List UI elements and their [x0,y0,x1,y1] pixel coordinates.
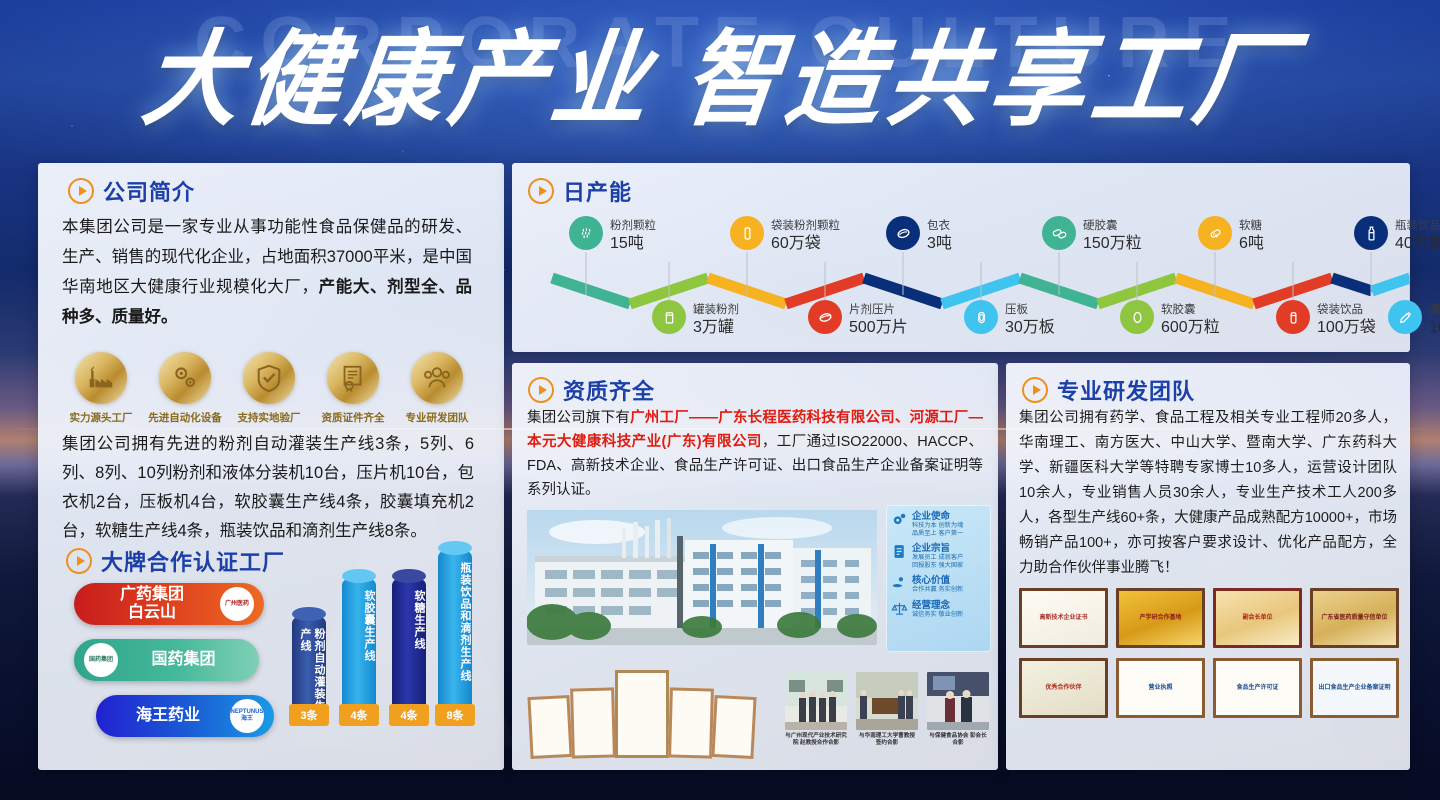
capacity-node-value: 10万瓶 [1429,318,1440,337]
partnership-photo [927,672,989,730]
certificate-item[interactable] [615,670,669,758]
brand-partners-title: 大牌合作认证工厂 [101,545,285,577]
culture-item-line1: 科技为本 创新为魂 [912,522,963,530]
banner: CORPORATE CULTURE 大健康产业 智造共享工厂 [0,0,1440,160]
certificate-item[interactable]: 营业执照 [1116,658,1205,718]
capacity-node-label: 软胶囊 [1161,304,1196,316]
culture-item-text: 经营理念 诚信务实 敬业创新 [912,600,963,619]
culture-item-title: 企业使命 [912,511,963,522]
culture-item-line2: 品质至上 客户第一 [912,530,963,538]
capacity-zigzag-chart: 粉剂颗粒 15吨 袋装粉剂颗粒 60万袋 包衣 3吨 [512,200,1410,352]
capacity-node-text: 软糖 6吨 [1239,216,1264,253]
capacity-node-soft-capsule[interactable]: 软胶囊 600万粒 [1120,300,1220,337]
culture-item-line1: 合作共赢 务实创新 [912,586,963,594]
qualification-text-a: 集团公司旗下有 [527,410,630,426]
capacity-node-label: 软糖 [1239,220,1262,232]
bottle-icon [1354,216,1388,250]
factory-building-photo [527,510,877,645]
capacity-node-label: 硬胶囊 [1083,220,1118,232]
qualification-title: 资质齐全 [563,374,655,406]
rnd-team-heading: 专业研发团队 [1022,374,1195,406]
capacity-node-text: 软胶囊 600万粒 [1161,300,1220,337]
award-certificate-grid: 高新技术企业证书 产学研合作基地 副会长单位 广东省医药质量守信单位 优秀合作伙… [1019,588,1399,718]
production-line-bar-chart: 粉剂自动灌装生产线 3条 软胶囊生产线 4条 软糖生产线 4条 瓶装饮品和滴剂生… [292,560,472,760]
coated-tablet-icon [886,216,920,250]
capacity-node-value: 100万袋 [1317,318,1376,337]
capacity-node-tablet[interactable]: 片剂压片 500万片 [808,300,908,337]
capacity-node-value: 6吨 [1239,234,1264,253]
capacity-node-pouch-drink[interactable]: 袋装饮品 100万袋 [1276,300,1376,337]
capacity-node-value: 40万瓶 [1395,234,1440,253]
capacity-node-value: 3吨 [927,234,952,253]
bar-group: 粉剂自动灌装生产线 3条 [292,614,326,726]
bar-cap [342,569,376,583]
capacity-node-label: 瓶装饮品 [1395,220,1440,232]
capacity-node-label: 袋装饮品 [1317,304,1363,316]
certificate-item[interactable] [711,695,756,759]
neptunus-logo-icon: NEPTUNUS 海王 [230,699,264,733]
certificate-item[interactable]: 副会长单位 [1213,588,1302,648]
bar-label: 软胶囊生产线 [342,590,376,718]
culture-item-title: 核心价值 [912,575,963,586]
shield-check-icon [243,352,295,404]
culture-item-line2: 回报股东 强大国家 [912,562,963,570]
brand-badge-neptunus[interactable]: 海王药业 NEPTUNUS 海王 [96,695,274,737]
qualification-heading: 资质齐全 [528,374,655,406]
bar-label: 软糖生产线 [392,590,426,718]
capacity-node-text: 粉剂颗粒 15吨 [610,216,656,253]
certificate-item[interactable]: 高新技术企业证书 [1019,588,1108,648]
list-item[interactable]: 与华南理工大学曹教授 签约合影 [856,672,918,764]
factory-icon [75,352,127,404]
gold-badge-factory: 实力源头工厂 [62,352,140,425]
capacity-node-text: 罐装粉剂 3万罐 [693,300,739,337]
certificate-item[interactable]: 广东省医药质量守信单位 [1310,588,1399,648]
partnership-photo [785,672,847,730]
brand-badge-label: 国药集团 [118,651,249,669]
partnership-photo [856,672,918,730]
hand-person-icon [891,575,908,592]
rnd-team-title: 专业研发团队 [1057,374,1195,406]
book-icon [891,543,908,560]
capacity-node-value: 60万袋 [771,234,840,253]
culture-item-text: 企业使命 科技为本 创新为魂 品质至上 客户第一 [912,511,963,537]
bar-value-tag: 4条 [339,704,379,726]
certificate-fan-gallery [527,672,777,764]
culture-item-core-value: 核心价值 合作共赢 务实创新 [891,575,986,594]
gold-badge-label: 专业研发团队 [398,410,476,425]
company-intro-title: 公司简介 [103,175,195,207]
certificate-item[interactable]: 优秀合作伙伴 [1019,658,1108,718]
capacity-node-label: 片剂压片 [849,304,895,316]
bar-cap [392,569,426,583]
bar-value-tag: 3条 [289,704,329,726]
sinopharm-logo-icon: 国药集团 [84,643,118,677]
gold-badge-label: 资质证件齐全 [314,410,392,425]
certificate-caption: 广东省医药质量守信单位 [1321,614,1387,622]
capacity-node-powder-granule[interactable]: 粉剂颗粒 15吨 [569,216,656,253]
gold-badge-certificates: 资质证件齐全 [314,352,392,425]
people-icon [411,352,463,404]
company-intro-heading: 公司简介 [68,175,195,207]
capacity-node-label: 压板 [1005,304,1028,316]
capacity-node-bottle-drink[interactable]: 瓶装饮品 40万瓶 [1354,216,1440,253]
culture-item-text: 企业宗旨 发展员工 成就客户 回报股东 强大国家 [912,543,963,569]
capacity-node-value: 3万罐 [693,318,739,337]
dropper-icon [1388,300,1422,334]
brand-badge-list: 广药集团白云山 广州医药 国药集团 国药集团 海王药业 NEPTUNUS 海王 [74,583,249,751]
capacity-node-text: 片剂压片 500万片 [849,300,908,337]
capacity-node-gummy[interactable]: 软糖 6吨 [1198,216,1264,253]
culture-item-title: 经营理念 [912,600,963,611]
brand-badge-label: 海王药业 [106,707,230,725]
scales-icon [891,600,908,617]
capacity-node-text: 滴剂 10万瓶 [1429,300,1440,337]
brand-partners-heading: 大牌合作认证工厂 [66,545,285,577]
certificate-caption: 产学研合作基地 [1139,614,1181,622]
gold-badge-automation: 先进自动化设备 [146,352,224,425]
table-row[interactable]: 瓶装饮品和滴剂生产线 [438,548,472,726]
bar-value-tag: 8条 [435,704,475,726]
capacity-node-value: 600万粒 [1161,318,1220,337]
bar-label: 瓶装饮品和滴剂生产线 [438,562,472,718]
bar-group: 瓶装饮品和滴剂生产线 8条 [438,548,472,726]
qualification-text: 集团公司旗下有广州工厂——广东长程医药科技有限公司、河源工厂—本元大健康科技产业… [527,406,983,502]
culture-item-mission: 企业使命 科技为本 创新为魂 品质至上 客户第一 [891,511,986,537]
chevron-right-circle-icon [528,377,554,403]
capacity-node-text: 包衣 3吨 [927,216,952,253]
culture-item-management: 经营理念 诚信务实 敬业创新 [891,600,986,619]
capacity-node-coating[interactable]: 包衣 3吨 [886,216,952,253]
guangyao-logo-icon: 广州医药 [220,587,254,621]
gold-badge-audit: 支持实地验厂 [230,352,308,425]
capacity-node-sachet[interactable]: 袋装粉剂颗粒 60万袋 [730,216,840,253]
certificate-item[interactable]: 出口食品生产企业备案证明 [1310,658,1399,718]
chevron-right-circle-icon [1022,377,1048,403]
certificate-item[interactable] [527,695,572,759]
bar-group: 软胶囊生产线 4条 [342,576,376,726]
photo-caption: 与广州现代产业技术研究院 赵教授合作合影 [785,733,847,747]
chevron-right-circle-icon [68,178,94,204]
certificate-item[interactable]: 产学研合作基地 [1116,588,1205,648]
certificate-caption: 优秀合作伙伴 [1045,684,1081,692]
capacity-node-text: 袋装饮品 100万袋 [1317,300,1376,337]
capacity-node-value: 30万板 [1005,318,1055,337]
capacity-node-blister[interactable]: 压板 30万板 [964,300,1055,337]
company-intro-text: 本集团公司是一家专业从事功能性食品保健品的研发、生产、销售的现代化企业，占地面积… [62,212,472,332]
production-lines-text: 集团公司拥有先进的粉剂自动灌装生产线3条，5列、6列、8列、10列粉剂和液体分装… [62,430,474,546]
rnd-team-text: 集团公司拥有药学、食品工程及相关专业工程师20多人，华南理工、南方医大、中山大学… [1019,406,1397,581]
chevron-right-circle-icon [66,548,92,574]
capacity-node-text: 袋装粉剂颗粒 60万袋 [771,216,840,253]
bar-cap [292,607,326,621]
culture-item-purpose: 企业宗旨 发展员工 成就客户 回报股东 强大国家 [891,543,986,569]
bar-cap [438,541,472,555]
certificate-caption: 营业执照 [1148,684,1172,692]
capacity-node-text: 压板 30万板 [1005,300,1055,337]
gears-icon [159,352,211,404]
pouch-drink-icon [1276,300,1310,334]
sachet-icon [730,216,764,250]
capacity-node-label: 袋装粉剂颗粒 [771,220,840,232]
capacity-node-label: 粉剂颗粒 [610,220,656,232]
certificate-caption: 高新技术企业证书 [1039,614,1087,622]
certificate-caption: 副会长单位 [1242,614,1272,622]
photo-caption: 与华南理工大学曹教授 签约合影 [856,733,918,747]
gold-badge-rnd-team: 专业研发团队 [398,352,476,425]
certificate-item[interactable]: 食品生产许可证 [1213,658,1302,718]
capacity-node-value: 150万粒 [1083,234,1142,253]
blister-icon [964,300,998,334]
poster-root: CORPORATE CULTURE 大健康产业 智造共享工厂 公司简介 本集团公… [0,0,1440,800]
capacity-node-text: 硬胶囊 150万粒 [1083,216,1142,253]
bar-group: 软糖生产线 4条 [392,576,426,726]
corporate-culture-box: 企业使命 科技为本 创新为魂 品质至上 客户第一 企业宗旨 发展员工 成就客户 … [886,505,991,652]
culture-item-line1: 诚信务实 敬业创新 [912,611,963,619]
capacity-node-label: 滴剂 [1429,304,1440,316]
partnership-photo-gallery: 与广州现代产业技术研究院 赵教授合作合影 与华南理工大学曹教授 签约合影 与保健… [785,672,990,764]
list-item[interactable]: 与广州现代产业技术研究院 赵教授合作合影 [785,672,847,764]
capacity-node-value: 500万片 [849,318,908,337]
gold-badge-label: 先进自动化设备 [146,410,224,425]
capacity-node-dropper[interactable]: 滴剂 10万瓶 [1388,300,1440,337]
bar-value-tag: 4条 [389,704,429,726]
capacity-node-label: 包衣 [927,220,950,232]
soft-capsule-icon [1120,300,1154,334]
can-icon [652,300,686,334]
brand-badge-guangyao[interactable]: 广药集团白云山 广州医药 [74,583,264,625]
gold-badge-row: 实力源头工厂 先进自动化设备 支持实地验厂 资质证件齐全 专业研发团队 [62,352,476,425]
culture-item-text: 核心价值 合作共赢 务实创新 [912,575,963,594]
culture-item-title: 企业宗旨 [912,543,963,554]
gold-badge-label: 支持实地验厂 [230,410,308,425]
certificate-item[interactable] [570,687,616,758]
certificate-item[interactable] [668,687,714,758]
photo-caption: 与保健食品协会 彭会长合影 [927,733,989,747]
tablet-icon [808,300,842,334]
powder-granule-icon [569,216,603,250]
gold-badge-label: 实力源头工厂 [62,410,140,425]
list-item[interactable]: 与保健食品协会 彭会长合影 [927,672,989,764]
certificate-icon [327,352,379,404]
page-title: 大健康产业 智造共享工厂 [0,22,1440,141]
capacity-node-value: 15吨 [610,234,656,253]
hard-capsule-icon [1042,216,1076,250]
brand-badge-sinopharm[interactable]: 国药集团 国药集团 [74,639,259,681]
culture-item-line1: 发展员工 成就客户 [912,554,963,562]
capacity-node-hard-capsule[interactable]: 硬胶囊 150万粒 [1042,216,1142,253]
capacity-node-canned-powder[interactable]: 罐装粉剂 3万罐 [652,300,739,337]
gear-icon [891,511,908,528]
capacity-node-text: 瓶装饮品 40万瓶 [1395,216,1440,253]
capacity-node-label: 罐装粉剂 [693,304,739,316]
brand-badge-label: 广药集团白云山 [84,586,220,622]
certificate-caption: 出口食品生产企业备案证明 [1318,684,1390,692]
gummy-icon [1198,216,1232,250]
certificate-caption: 食品生产许可证 [1236,684,1278,692]
